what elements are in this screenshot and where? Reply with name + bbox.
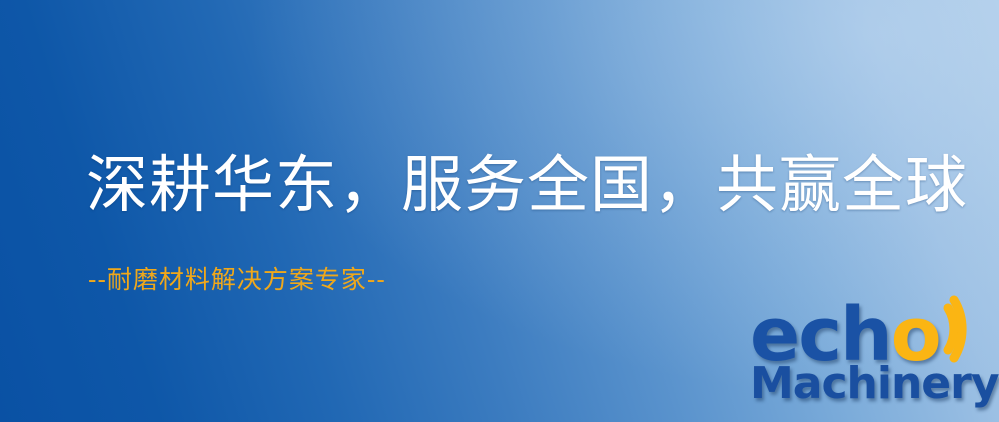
logo-machinery-text: Machinery®	[750, 362, 999, 406]
promo-banner: 深耕华东，服务全国，共赢全球 --耐磨材料解决方案专家-- echo Machi…	[0, 0, 999, 422]
signal-waves-icon	[928, 294, 999, 368]
company-logo: echo Machinery®	[748, 300, 999, 422]
banner-headline: 深耕华东，服务全国，共赢全球	[86, 152, 968, 217]
logo-machinery-label: Machinery	[750, 358, 999, 409]
banner-subtitle: --耐磨材料解决方案专家--	[88, 266, 386, 294]
